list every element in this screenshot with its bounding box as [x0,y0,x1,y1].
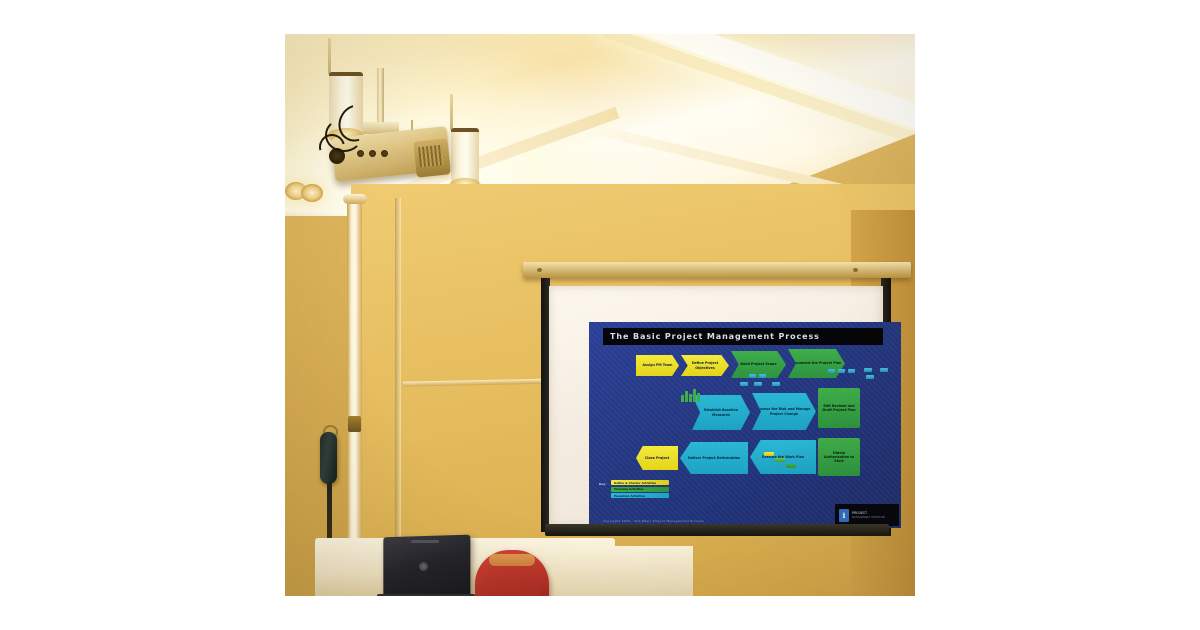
connector-box-8 [848,369,855,373]
flow-node-define-project-objectives: Define Project Objectives [681,355,729,376]
projection-screen-assembly: The Basic Project Management Process Ass… [521,262,911,544]
housing-screw-right [853,268,858,272]
slide-logo-mark: i [839,509,849,522]
flow-node-edit-project-plan: Edit Revised and Draft Project Plan [818,388,860,428]
phone-cord [327,482,332,542]
slide-bar-chart [681,388,700,402]
conference-room-photo: The Basic Project Management Process Ass… [285,34,915,596]
slide-logo-line2: MANAGEMENT INSTITUTE [852,516,885,519]
laptop-hinge [377,594,475,596]
pendant-rod [328,38,331,74]
chair-top-highlight [489,554,535,566]
wall-mounted-telephone[interactable] [320,432,337,484]
connector-box-13 [775,458,785,462]
flow-node-document-project-plan: Document the Project Plan [788,349,845,378]
connector-box-2 [759,374,766,378]
projector-vent [418,145,444,167]
flow-node-assign-pm-team: Assign PM Team [636,355,679,376]
slide-logo: i PROJECT MANAGEMENT INSTITUTE [835,504,899,526]
slide-title-bar: The Basic Project Management Process [603,328,883,345]
wall-conduit-cap [343,194,367,204]
connector-box-9 [864,368,872,372]
slide-footer: Copyright 2004 - The Basic Project Manag… [603,519,704,523]
page-canvas: The Basic Project Management Process Ass… [0,0,1200,630]
connector-box-7 [838,369,845,373]
slide-logo-text: PROJECT MANAGEMENT INSTITUTE [852,511,885,519]
housing-screw-left [537,268,542,272]
legend-label: Key: [599,482,606,486]
connector-box-11 [866,375,874,379]
laptop-bezel [411,540,439,543]
connector-box-10 [880,368,888,372]
legend-item-planning: Planning Activities [611,487,669,492]
flow-node-assess-risk: Assess the Risk and Manage Project Chang… [752,393,816,430]
connector-box-3 [740,382,748,386]
connector-box-4 [754,382,762,386]
flow-node-establish-baseline: Establish Baseline Measures [692,395,750,430]
slide-title: The Basic Project Management Process [603,332,820,341]
legend-item-execution: Execution Activities [611,493,669,498]
projected-slide: The Basic Project Management Process Ass… [589,322,901,528]
flow-node-deliver-project: Deliver Project Deliverables [680,442,748,474]
laptop-logo [419,562,428,571]
wall-conduit-junction-box [348,416,361,432]
pendant-rod [450,94,453,130]
connector-box-1 [749,374,756,378]
slide-logo-line1: PROJECT [852,511,885,515]
screen-roller-housing [523,262,911,278]
flow-node-close-project: Close Project [636,446,678,470]
downlight-7 [301,184,323,202]
connector-box-14 [786,464,796,468]
wall-conduit [347,202,362,596]
slide-legend: Key: Define & Charter Activities Plannin… [611,480,669,500]
connector-box-6 [828,369,835,373]
connector-box-12 [764,452,774,456]
connector-box-5 [772,382,780,386]
projection-screen-surface: The Basic Project Management Process Ass… [549,286,883,528]
legend-item-define: Define & Charter Activities [611,480,669,485]
screen-weight-bar [545,524,889,536]
draped-table-right [553,546,693,596]
flow-node-execute-work-plan: Execute the Work Plan [750,440,816,474]
flow-node-obtain-authorization: Obtain Authorization to Start [818,438,860,476]
